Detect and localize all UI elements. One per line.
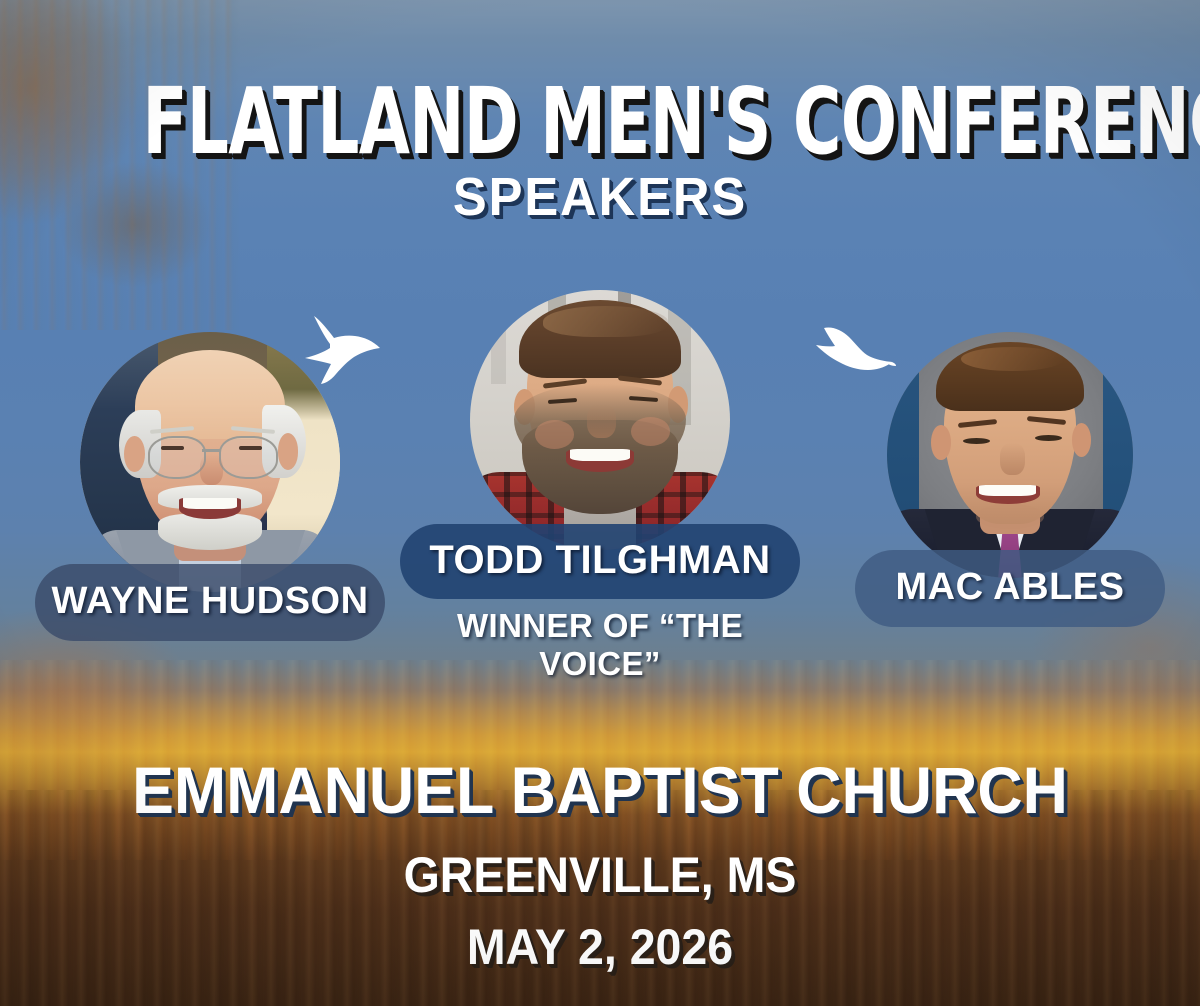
speaker-portrait-wayne-hudson xyxy=(80,332,340,592)
speaker-card-mac-ables: MAC ABLES xyxy=(840,332,1180,627)
speaker-name-badge-wayne-hudson: WAYNE HUDSON xyxy=(35,564,385,641)
speakers-grid: WAYNE HUDSON xyxy=(0,290,1200,680)
venue-city: GREENVILLE, MS xyxy=(42,846,1158,904)
speaker-card-todd-tilghman: TODD TILGHMAN WINNER OF “THE VOICE” xyxy=(395,290,805,683)
page-title: FLATLAND MEN'S CONFERENCE xyxy=(142,76,1200,168)
venue-name: EMMANUEL BAPTIST CHURCH xyxy=(30,752,1170,828)
speaker-name-badge-todd-tilghman: TODD TILGHMAN xyxy=(400,524,800,599)
speakers-heading: SPEAKERS xyxy=(36,166,1164,228)
speaker-portrait-todd-tilghman xyxy=(470,290,730,550)
speaker-name-badge-mac-ables: MAC ABLES xyxy=(855,550,1165,627)
speaker-portrait-mac-ables xyxy=(887,332,1133,578)
speaker-subtitle-todd-tilghman: WINNER OF “THE VOICE” xyxy=(395,607,805,683)
event-date: MAY 2, 2026 xyxy=(42,918,1158,976)
section-heading-row: SPEAKERS xyxy=(0,158,1200,268)
speaker-card-wayne-hudson: WAYNE HUDSON xyxy=(30,332,390,641)
conference-poster: FLATLAND MEN'S CONFERENCE SPEAKERS xyxy=(0,0,1200,1006)
event-details: EMMANUEL BAPTIST CHURCH GREENVILLE, MS M… xyxy=(0,752,1200,976)
